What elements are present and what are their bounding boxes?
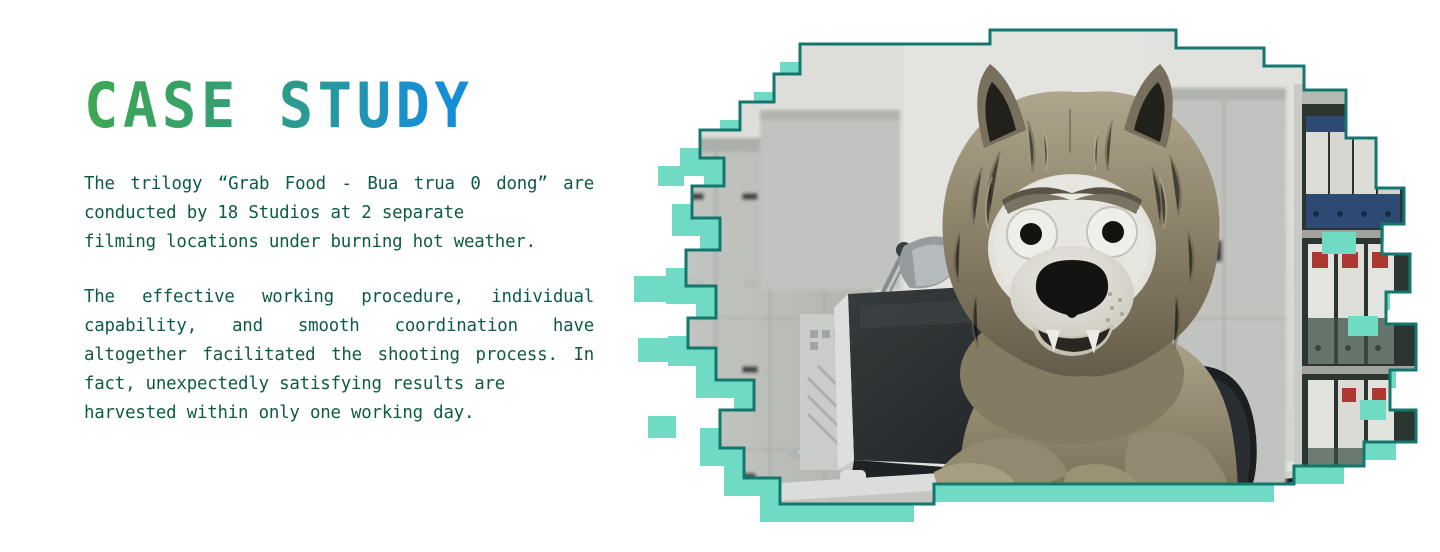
paragraph-1-last-line: filming locations under burning hot weat…	[84, 228, 594, 257]
page-title: CASE STUDY	[84, 72, 553, 140]
paragraph-1-text: The trilogy “Grab Food - Bua trua 0 dong…	[84, 174, 594, 223]
paragraph-2-last-line: harvested within only one working day.	[84, 399, 594, 428]
glitch-chips	[604, 18, 1440, 534]
body-paragraph-2: The effective working procedure, individ…	[84, 283, 594, 428]
case-study-photo	[604, 18, 1440, 534]
paragraph-2-text: The effective working procedure, individ…	[84, 287, 594, 394]
body-paragraph-1: The trilogy “Grab Food - Bua trua 0 dong…	[84, 170, 594, 257]
text-column: CASE STUDY The trilogy “Grab Food - Bua …	[84, 72, 594, 428]
case-study-slide: CASE STUDY The trilogy “Grab Food - Bua …	[0, 0, 1440, 549]
